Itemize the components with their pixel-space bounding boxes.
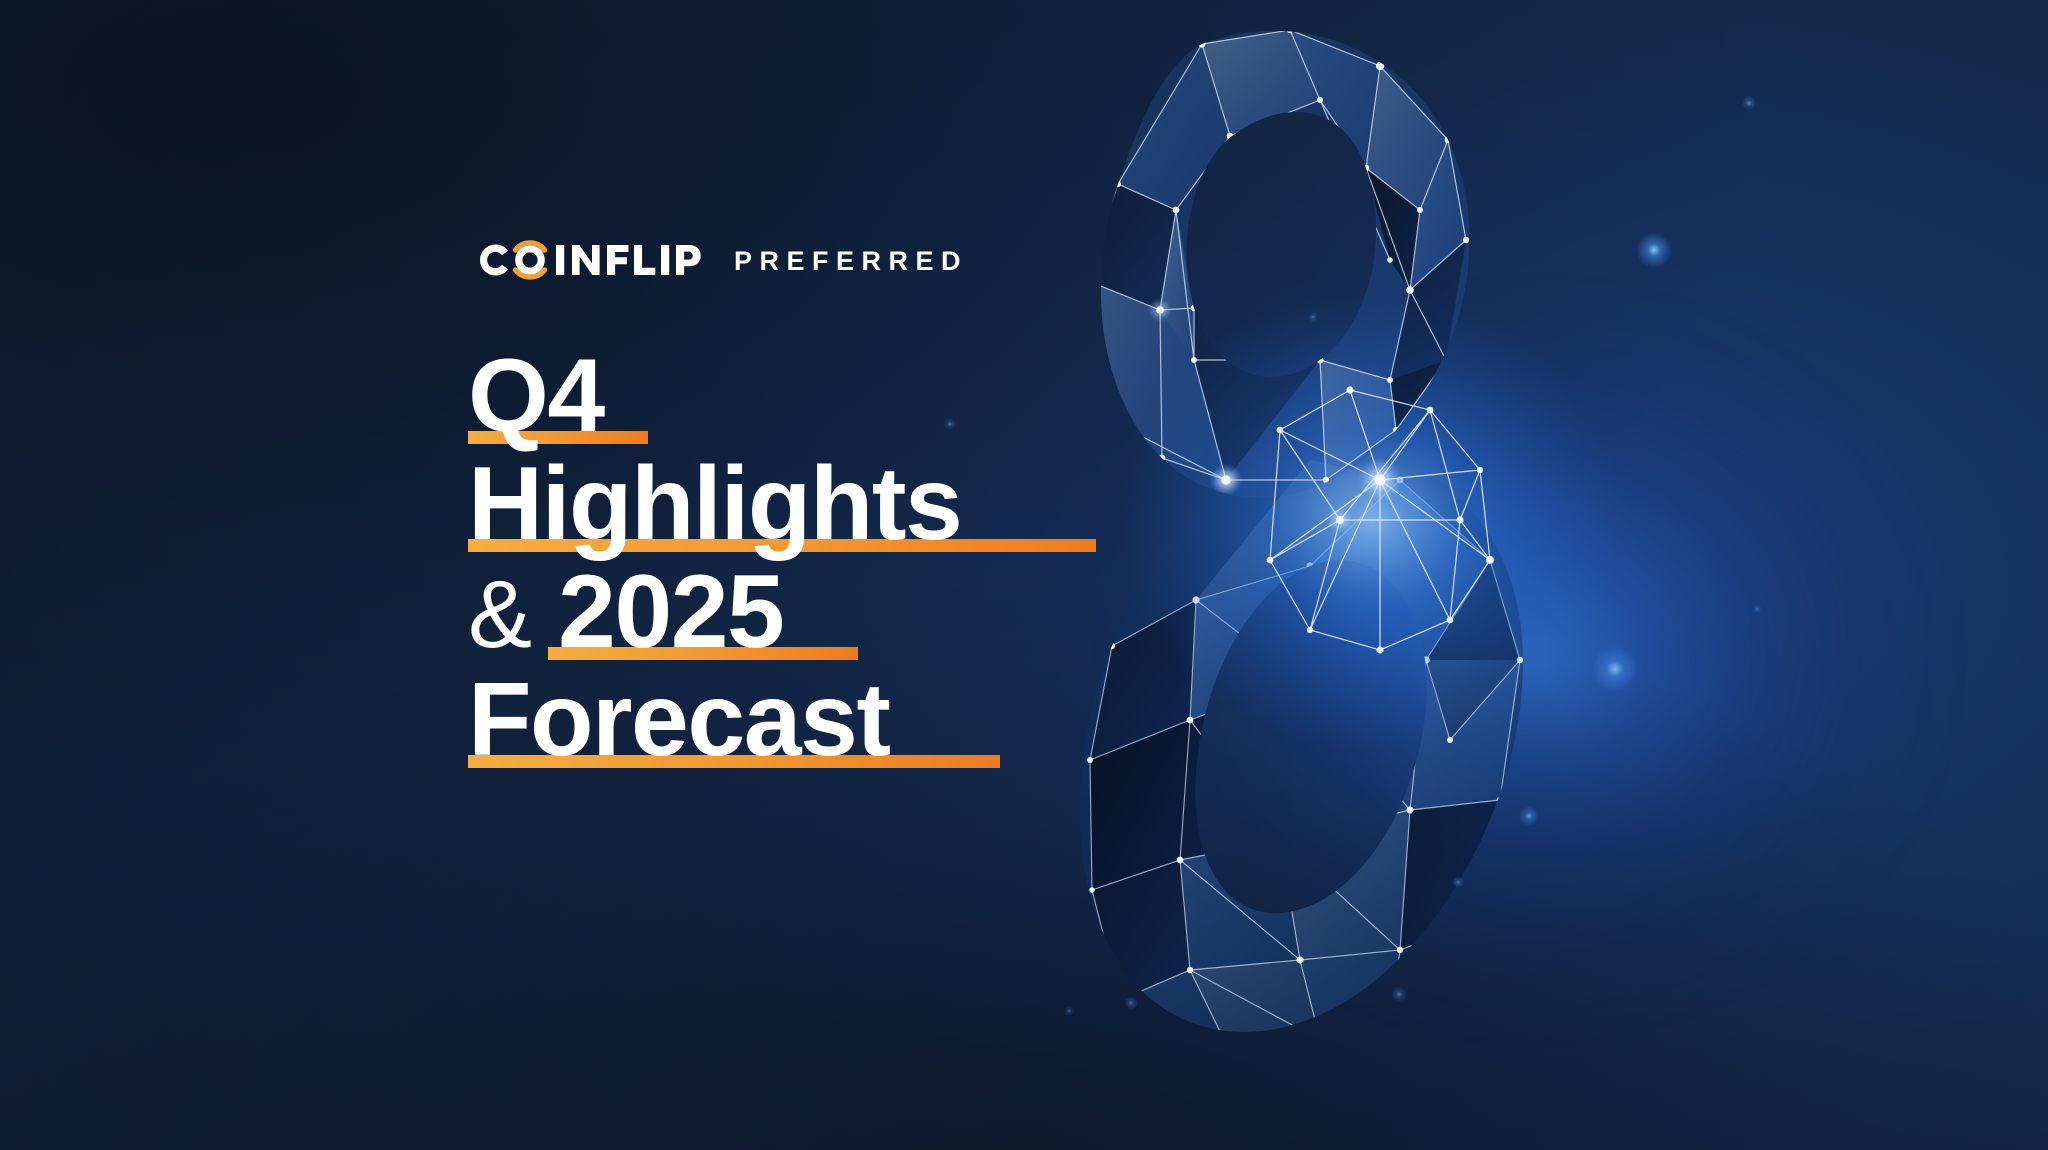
coinflip-logo-wordmark — [468, 234, 704, 286]
logo-preferred-label: PREFERRED — [734, 246, 968, 275]
headline-line-forecast: Forecast — [468, 670, 1288, 772]
headline-text-highlights: Highlights — [468, 454, 961, 556]
title-slide: PREFERRED Q4 Highlights &2025 Forecast — [0, 0, 2048, 1150]
headline-text-forecast: Forecast — [468, 670, 890, 772]
headline-text-2025: 2025 — [558, 562, 783, 664]
headline-line-q4: Q4 — [468, 346, 1288, 448]
slide-content: PREFERRED Q4 Highlights &2025 Forecast — [468, 232, 1288, 772]
headline-text-q4: Q4 — [468, 346, 604, 448]
headline-line-2025: &2025 — [468, 562, 1288, 664]
page-title: Q4 Highlights &2025 Forecast — [468, 346, 1288, 772]
headline-line-highlights: Highlights — [468, 454, 1288, 556]
headline-ampersand: & — [468, 568, 532, 662]
brand-logo-lockup[interactable]: PREFERRED — [468, 232, 1288, 288]
